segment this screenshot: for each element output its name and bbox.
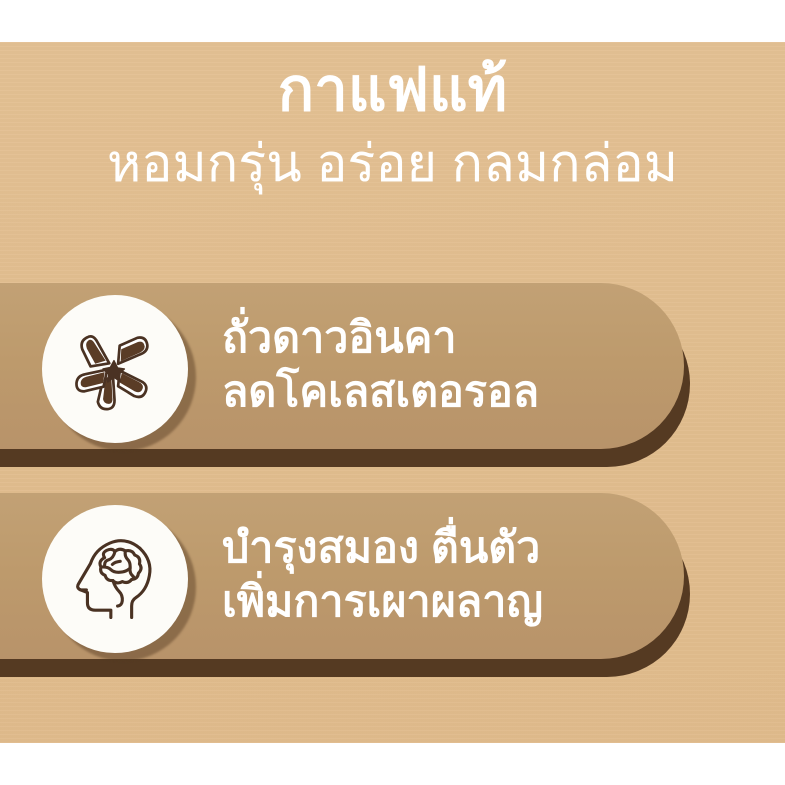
feature-line-2: เพิ่มการเผาผลาญ (222, 576, 543, 630)
sacha-inchi-pod-icon (63, 317, 167, 421)
headline-block: กาแฟแท้ หอมกรุ่น อร่อย กลมกล่อม (0, 58, 785, 195)
feature-icon-badge (42, 295, 188, 443)
head-brain-icon (63, 527, 167, 631)
feature-text-block: ถั่วดาวอินคา ลดโคเลสเตอรอล (222, 283, 539, 449)
feature-line-1: ถั่วดาวอินคา (222, 312, 539, 366)
feature-text-block: บำรุงสมอง ตื่นตัว เพิ่มการเผาผลาญ (222, 493, 543, 659)
feature-line-1: บำรุงสมอง ตื่นตัว (222, 522, 543, 576)
feature-icon-badge (42, 505, 188, 653)
feature-row-sacha-inchi[interactable]: ถั่วดาวอินคา ลดโคเลสเตอรอล (0, 283, 690, 449)
feature-row-brain[interactable]: บำรุงสมอง ตื่นตัว เพิ่มการเผาผลาญ (0, 493, 690, 659)
page-title: กาแฟแท้ (0, 58, 785, 121)
coffee-promo-poster: กาแฟแท้ หอมกรุ่น อร่อย กลมกล่อม (0, 0, 785, 785)
feature-line-2: ลดโคเลสเตอรอล (222, 366, 539, 420)
page-subtitle: หอมกรุ่น อร่อย กลมกล่อม (0, 135, 785, 195)
